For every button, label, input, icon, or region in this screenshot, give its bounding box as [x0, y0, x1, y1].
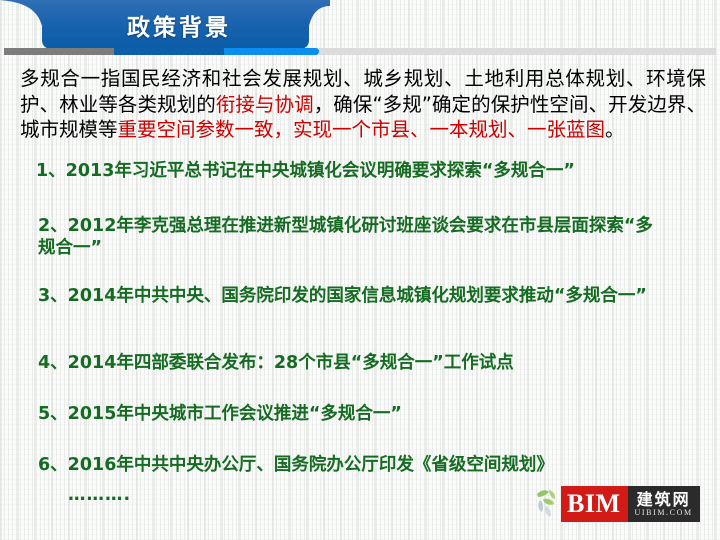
rule-segment-light-gray — [319, 48, 716, 55]
list-continuation-ellipsis: ………. — [68, 485, 131, 505]
intro-paragraph: 多规合一指国民经济和社会发展规划、城乡规划、土地利用总体规划、环境保护、林业等各… — [20, 66, 706, 143]
intro-text-part3: 。 — [605, 118, 625, 141]
rule-segment-gray — [4, 48, 114, 55]
logo-chinese-text: 建筑网 — [637, 491, 691, 508]
logo-domain-text: UIBIM.COM — [635, 508, 693, 518]
header-banner: 政策背景 — [0, 0, 330, 50]
list-item: 1、2013年习近平总书记在中央城镇化会议明确要求探索“多规合一” — [36, 160, 676, 182]
page-title: 政策背景 — [0, 0, 330, 50]
list-item: 2、2012年李克强总理在推进新型城镇化研讨班座谈会要求在市县层面探索“多规合一… — [38, 215, 663, 259]
logo-brand-text: BIM — [561, 486, 628, 522]
leaf-icon — [531, 486, 561, 522]
slide-canvas: 政策背景 多规合一指国民经济和社会发展规划、城乡规划、土地利用总体规划、环境保护… — [0, 0, 720, 540]
intro-highlight-1: 衔接与协调 — [216, 93, 314, 116]
list-item: 5、2015年中央城市工作会议推进“多规合一” — [38, 403, 683, 425]
list-item: 4、2014年四部委联合发布：28个市县“多规合一”工作试点 — [38, 352, 683, 374]
logo-panel: 建筑网 UIBIM.COM — [628, 486, 700, 522]
list-item: 6、2016年中共中央办公厅、国务院办公厅印发《省级空间规划》 — [38, 454, 683, 476]
divider-rule — [4, 48, 716, 55]
rule-segment-bright-blue — [224, 48, 319, 55]
intro-highlight-2: 重要空间参数一致，实现一个市县、一本规划、一张蓝图 — [118, 118, 606, 141]
list-item: 3、2014年中共中央、国务院印发的国家信息城镇化规划要求推动“多规合一” — [38, 285, 683, 307]
rule-segment-dark-blue — [114, 48, 224, 55]
bim-logo: BIM 建筑网 UIBIM.COM — [531, 486, 700, 522]
